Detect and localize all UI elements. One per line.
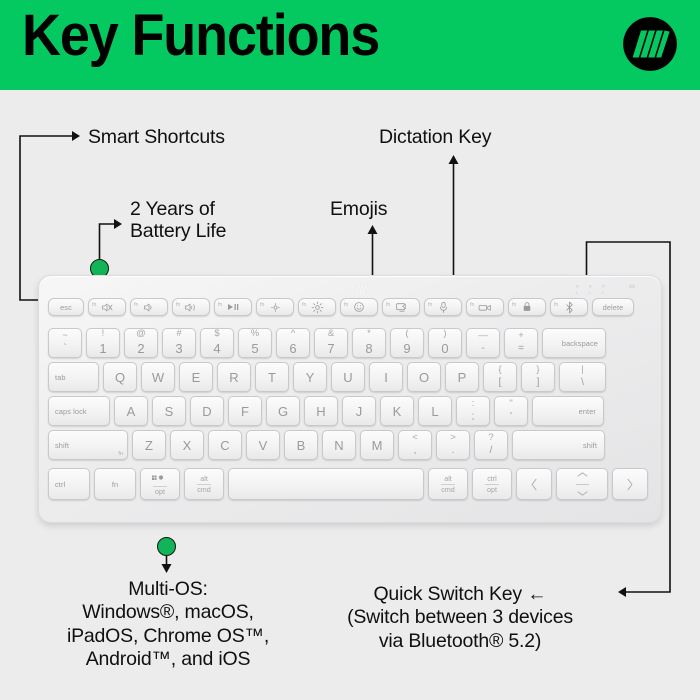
key-brightness-up[interactable]: fn xyxy=(298,298,336,316)
key-microphone[interactable]: fn xyxy=(424,298,462,316)
key-a[interactable]: A xyxy=(114,396,148,426)
key-shift-right[interactable]: shift xyxy=(512,430,605,460)
key-6[interactable]: ^ 6 xyxy=(276,328,310,358)
key-0[interactable]: ) 0 xyxy=(428,328,462,358)
callout-emojis: Emojis xyxy=(330,198,387,220)
key-h[interactable]: H xyxy=(304,396,338,426)
key-f[interactable]: F xyxy=(228,396,262,426)
arrow-left-icon xyxy=(530,478,538,491)
key-slash[interactable]: ? / xyxy=(474,430,508,460)
marker-dot-multi-os xyxy=(157,537,176,556)
keyboard-body: 1 2 3 . esc fn xyxy=(38,275,662,523)
key-tab[interactable]: tab xyxy=(48,362,99,392)
key-emoji[interactable]: fn xyxy=(340,298,378,316)
key-t[interactable]: T xyxy=(255,362,289,392)
key-caps-lock[interactable]: caps lock xyxy=(48,396,110,426)
key-screen-share[interactable]: fn xyxy=(382,298,420,316)
key-mute[interactable]: fn xyxy=(88,298,126,316)
callout-dictation-key: Dictation Key xyxy=(379,126,491,148)
key-period[interactable]: > . xyxy=(436,430,470,460)
key-play-pause[interactable]: fn xyxy=(214,298,252,316)
key-win-opt[interactable]: opt xyxy=(140,468,180,500)
key-semicolon[interactable]: : ; xyxy=(456,396,490,426)
keyboard-function-row: esc fn fn fn xyxy=(48,298,634,316)
screen-share-icon xyxy=(395,302,408,313)
arrow-right-icon xyxy=(626,478,634,491)
key-alt-cmd-right[interactable]: alt cmd xyxy=(428,468,468,500)
key-arrow-up-down[interactable] xyxy=(556,468,608,500)
svg-text:.: . xyxy=(630,291,631,295)
volume-up-icon xyxy=(184,302,198,313)
key-1[interactable]: ! 1 xyxy=(86,328,120,358)
key-arrow-left[interactable] xyxy=(516,468,552,500)
key-arrow-right[interactable] xyxy=(612,468,648,500)
bluetooth-icon xyxy=(565,301,574,314)
key-z[interactable]: Z xyxy=(132,430,166,460)
key-delete[interactable]: delete xyxy=(592,298,634,316)
key-comma[interactable]: < , xyxy=(398,430,432,460)
arrow-up-down-icon[interactable] xyxy=(576,469,589,499)
key-alt-cmd[interactable]: alt cmd xyxy=(184,468,224,500)
key-y[interactable]: Y xyxy=(293,362,327,392)
key-volume-down[interactable]: fn xyxy=(130,298,168,316)
volume-down-icon xyxy=(143,302,155,313)
keyboard-number-row: ~ ` ! 1 @ 2 xyxy=(48,328,606,358)
brightness-down-icon xyxy=(270,302,281,313)
svg-text:2: 2 xyxy=(589,291,591,295)
mute-icon xyxy=(101,302,113,313)
key-tilde[interactable]: ~ ` xyxy=(48,328,82,358)
key-volume-up[interactable]: fn xyxy=(172,298,210,316)
key-l[interactable]: L xyxy=(418,396,452,426)
infographic-root: Key Functions xyxy=(0,0,700,700)
callout-smart-shortcuts: Smart Shortcuts xyxy=(88,126,225,148)
key-3[interactable]: # 3 xyxy=(162,328,196,358)
fn-lock-mark: fn xyxy=(118,451,123,457)
key-ctrl-opt-right[interactable]: ctrl opt xyxy=(472,468,512,500)
key-c[interactable]: C xyxy=(208,430,242,460)
key-camera[interactable]: fn xyxy=(466,298,504,316)
key-5[interactable]: % 5 xyxy=(238,328,272,358)
key-7[interactable]: & 7 xyxy=(314,328,348,358)
svg-text:3: 3 xyxy=(602,291,604,295)
key-backslash[interactable]: | \ xyxy=(559,362,606,392)
key-q[interactable]: Q xyxy=(103,362,137,392)
key-e[interactable]: E xyxy=(179,362,213,392)
key-g[interactable]: G xyxy=(266,396,300,426)
windows-apple-icon xyxy=(151,472,169,485)
callout-battery-life: 2 Years of Battery Life xyxy=(130,198,226,242)
key-minus[interactable]: — - xyxy=(466,328,500,358)
key-x[interactable]: X xyxy=(170,430,204,460)
key-w[interactable]: W xyxy=(141,362,175,392)
key-ctrl-left[interactable]: ctrl xyxy=(48,468,90,500)
key-n[interactable]: N xyxy=(322,430,356,460)
key-brightness-down[interactable]: fn xyxy=(256,298,294,316)
key-r[interactable]: R xyxy=(217,362,251,392)
microphone-icon xyxy=(439,301,448,314)
key-k[interactable]: K xyxy=(380,396,414,426)
key-o[interactable]: O xyxy=(407,362,441,392)
key-b[interactable]: B xyxy=(284,430,318,460)
key-m[interactable]: M xyxy=(360,430,394,460)
key-esc[interactable]: esc xyxy=(48,298,84,316)
key-lock[interactable]: fn xyxy=(508,298,546,316)
quick-switch-led-indicators: 1 2 3 . xyxy=(574,283,664,297)
key-bracket-right[interactable]: } ] xyxy=(521,362,555,392)
key-d[interactable]: D xyxy=(190,396,224,426)
hp-logo-watermark xyxy=(352,280,372,300)
svg-text:1: 1 xyxy=(576,291,578,295)
key-equals[interactable]: + = xyxy=(504,328,538,358)
key-4[interactable]: $ 4 xyxy=(200,328,234,358)
key-p[interactable]: P xyxy=(445,362,479,392)
keyboard-home-row: caps lock A S D F G H J K xyxy=(48,396,604,426)
key-enter[interactable]: enter xyxy=(532,396,604,426)
brightness-up-icon xyxy=(311,301,324,314)
caption-quick-switch: Quick Switch Key ← (Switch between 3 dev… xyxy=(295,583,625,653)
key-i[interactable]: I xyxy=(369,362,403,392)
key-backspace[interactable]: backspace xyxy=(542,328,606,358)
lock-icon xyxy=(522,301,532,313)
key-bracket-left[interactable]: { [ xyxy=(483,362,517,392)
key-s[interactable]: S xyxy=(152,396,186,426)
key-9[interactable]: ( 9 xyxy=(390,328,424,358)
key-fn[interactable]: fn xyxy=(94,468,136,500)
key-space[interactable] xyxy=(228,468,424,500)
keyboard-shift-row: shift fn Z X C V B N M xyxy=(48,430,605,460)
keyboard-bottom-row: ctrl fn xyxy=(48,468,648,500)
key-u[interactable]: U xyxy=(331,362,365,392)
key-j[interactable]: J xyxy=(342,396,376,426)
key-quote[interactable]: " ' xyxy=(494,396,528,426)
keyboard-qwerty-row: tab Q W E R T Y U I xyxy=(48,362,606,392)
key-v[interactable]: V xyxy=(246,430,280,460)
key-shift-left[interactable]: shift fn xyxy=(48,430,128,460)
camera-icon xyxy=(478,303,492,312)
key-bluetooth[interactable]: fn xyxy=(550,298,588,316)
caption-multi-os: Multi-OS: Windows®, macOS, iPadOS, Chrom… xyxy=(18,578,318,672)
emoji-icon xyxy=(353,301,365,313)
key-8[interactable]: * 8 xyxy=(352,328,386,358)
play-pause-icon xyxy=(226,302,240,312)
key-2[interactable]: @ 2 xyxy=(124,328,158,358)
